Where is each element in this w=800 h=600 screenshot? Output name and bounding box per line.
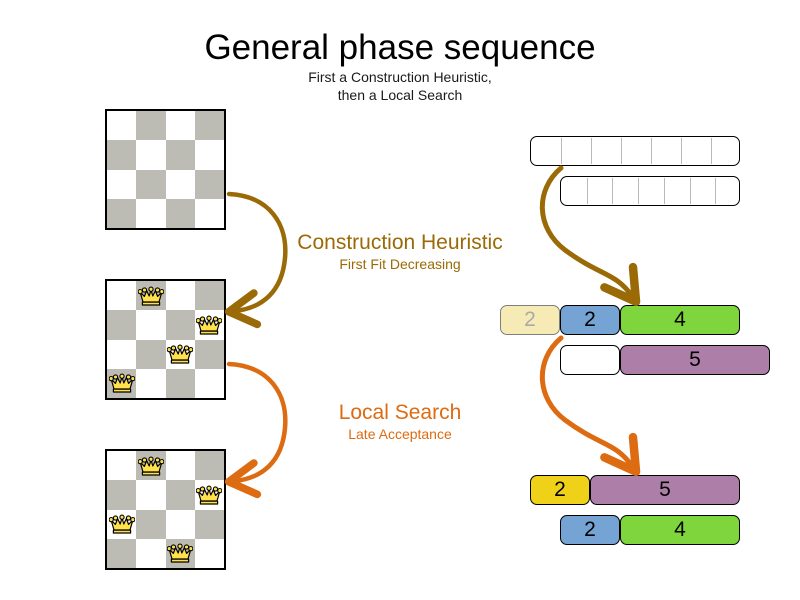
subtitle-line-1: First a Construction Heuristic, — [0, 68, 800, 86]
board-cell-r1-c1[interactable] — [136, 480, 165, 509]
board-cell-r3-c2[interactable] — [166, 199, 195, 228]
bin-block-label: 2 — [554, 478, 566, 502]
phase-algorithm: First Fit Decreasing — [250, 255, 550, 273]
bin-block-5[interactable]: 5 — [620, 345, 770, 375]
bin-block-5[interactable]: 5 — [590, 475, 740, 505]
queen-icon — [167, 542, 193, 564]
bin-segment-divider — [711, 138, 712, 164]
board-cell-r1-c0[interactable] — [107, 140, 136, 169]
queen-icon — [138, 455, 164, 477]
bin-block-empty[interactable] — [560, 345, 620, 375]
bin-empty-1 — [530, 136, 740, 166]
bin-block-4[interactable]: 4 — [620, 515, 740, 545]
board-cell-r2-c1[interactable] — [136, 510, 165, 539]
board-cell-r1-c1[interactable] — [136, 310, 165, 339]
chessboard-initial — [105, 109, 226, 230]
chessboard-after-construction — [105, 279, 226, 400]
board-cell-r3-c0[interactable] — [107, 199, 136, 228]
page-subtitle: First a Construction Heuristic, then a L… — [0, 68, 800, 104]
board-cell-r2-c0[interactable] — [107, 510, 136, 539]
diagram-canvas: General phase sequence First a Construct… — [0, 0, 800, 600]
bin-segment-divider — [561, 138, 562, 164]
board-cell-r2-c1[interactable] — [136, 170, 165, 199]
queen-icon — [138, 285, 164, 307]
board-cell-r1-c3[interactable] — [195, 480, 224, 509]
board-cell-r0-c1[interactable] — [136, 111, 165, 140]
bin-segment-divider — [621, 138, 622, 164]
bin-block-2[interactable]: 2 — [530, 475, 590, 505]
board-cell-r0-c1[interactable] — [136, 451, 165, 480]
board-cell-r3-c2[interactable] — [166, 369, 195, 398]
bin-after-construction-1: 224 — [500, 305, 740, 335]
board-cell-r0-c2[interactable] — [166, 111, 195, 140]
chessboard-after-local-search — [105, 449, 226, 570]
board-cell-r3-c1[interactable] — [136, 369, 165, 398]
bin-after-construction-2: 5 — [560, 345, 740, 375]
page-title: General phase sequence — [0, 28, 800, 68]
bin-block-2[interactable]: 2 — [560, 305, 620, 335]
board-cell-r0-c0[interactable] — [107, 451, 136, 480]
board-cell-r0-c3[interactable] — [195, 111, 224, 140]
queen-icon — [109, 372, 135, 394]
bin-empty-2 — [560, 176, 740, 206]
bin-after-local-search-2: 24 — [560, 515, 740, 545]
board-cell-r1-c2[interactable] — [166, 480, 195, 509]
board-cell-r3-c1[interactable] — [136, 539, 165, 568]
phase-label-construction-heuristic: Construction Heuristic First Fit Decreas… — [250, 231, 550, 273]
board-cell-r1-c2[interactable] — [166, 310, 195, 339]
bin-segment-divider — [664, 178, 665, 204]
bin-segment-divider — [715, 178, 716, 204]
subtitle-line-2: then a Local Search — [0, 86, 800, 104]
board-cell-r0-c1[interactable] — [136, 281, 165, 310]
bin-segment-divider — [690, 178, 691, 204]
bin-block-label: 4 — [674, 518, 686, 542]
bin-segment-divider — [651, 138, 652, 164]
queen-icon — [109, 513, 135, 535]
bin-block-label: 4 — [674, 308, 686, 332]
board-cell-r3-c3[interactable] — [195, 199, 224, 228]
board-cell-r0-c0[interactable] — [107, 281, 136, 310]
bin-segment-divider — [612, 178, 613, 204]
board-cell-r1-c1[interactable] — [136, 140, 165, 169]
bin-block-2[interactable]: 2 — [500, 305, 560, 335]
board-cell-r1-c3[interactable] — [195, 140, 224, 169]
bin-block-label: 5 — [689, 348, 701, 372]
board-cell-r3-c1[interactable] — [136, 199, 165, 228]
bin-segment-divider — [681, 138, 682, 164]
board-cell-r1-c2[interactable] — [166, 140, 195, 169]
queen-icon — [167, 343, 193, 365]
bin-segment-divider — [638, 178, 639, 204]
board-cell-r1-c0[interactable] — [107, 480, 136, 509]
board-cell-r2-c1[interactable] — [136, 340, 165, 369]
queen-icon — [196, 484, 222, 506]
bin-segment-divider — [591, 138, 592, 164]
board-cell-r2-c3[interactable] — [195, 340, 224, 369]
bin-block-label: 2 — [524, 308, 536, 332]
bin-block-4[interactable]: 4 — [620, 305, 740, 335]
board-cell-r2-c3[interactable] — [195, 170, 224, 199]
board-cell-r3-c0[interactable] — [107, 369, 136, 398]
board-grid — [107, 111, 224, 228]
board-cell-r1-c3[interactable] — [195, 310, 224, 339]
board-cell-r2-c0[interactable] — [107, 170, 136, 199]
board-cell-r2-c3[interactable] — [195, 510, 224, 539]
board-cell-r2-c2[interactable] — [166, 510, 195, 539]
board-cell-r2-c2[interactable] — [166, 170, 195, 199]
board-cell-r3-c0[interactable] — [107, 539, 136, 568]
board-cell-r0-c2[interactable] — [166, 281, 195, 310]
bin-segment-divider — [587, 178, 588, 204]
bin-block-label: 2 — [584, 308, 596, 332]
board-grid — [107, 281, 224, 398]
board-cell-r0-c0[interactable] — [107, 111, 136, 140]
board-cell-r2-c2[interactable] — [166, 340, 195, 369]
board-grid — [107, 451, 224, 568]
board-cell-r3-c3[interactable] — [195, 369, 224, 398]
phase-algorithm: Late Acceptance — [250, 425, 550, 443]
board-cell-r2-c0[interactable] — [107, 340, 136, 369]
bin-block-2[interactable]: 2 — [560, 515, 620, 545]
bin-after-local-search-1: 25 — [530, 475, 740, 505]
board-cell-r3-c3[interactable] — [195, 539, 224, 568]
phase-label-local-search: Local Search Late Acceptance — [250, 401, 550, 443]
phase-name: Local Search — [250, 401, 550, 425]
bin-block-label: 2 — [584, 518, 596, 542]
phase-name: Construction Heuristic — [250, 231, 550, 255]
board-cell-r0-c3[interactable] — [195, 451, 224, 480]
bin-block-label: 5 — [659, 478, 671, 502]
board-cell-r0-c2[interactable] — [166, 451, 195, 480]
board-cell-r0-c3[interactable] — [195, 281, 224, 310]
queen-icon — [196, 314, 222, 336]
board-cell-r3-c2[interactable] — [166, 539, 195, 568]
board-cell-r1-c0[interactable] — [107, 310, 136, 339]
